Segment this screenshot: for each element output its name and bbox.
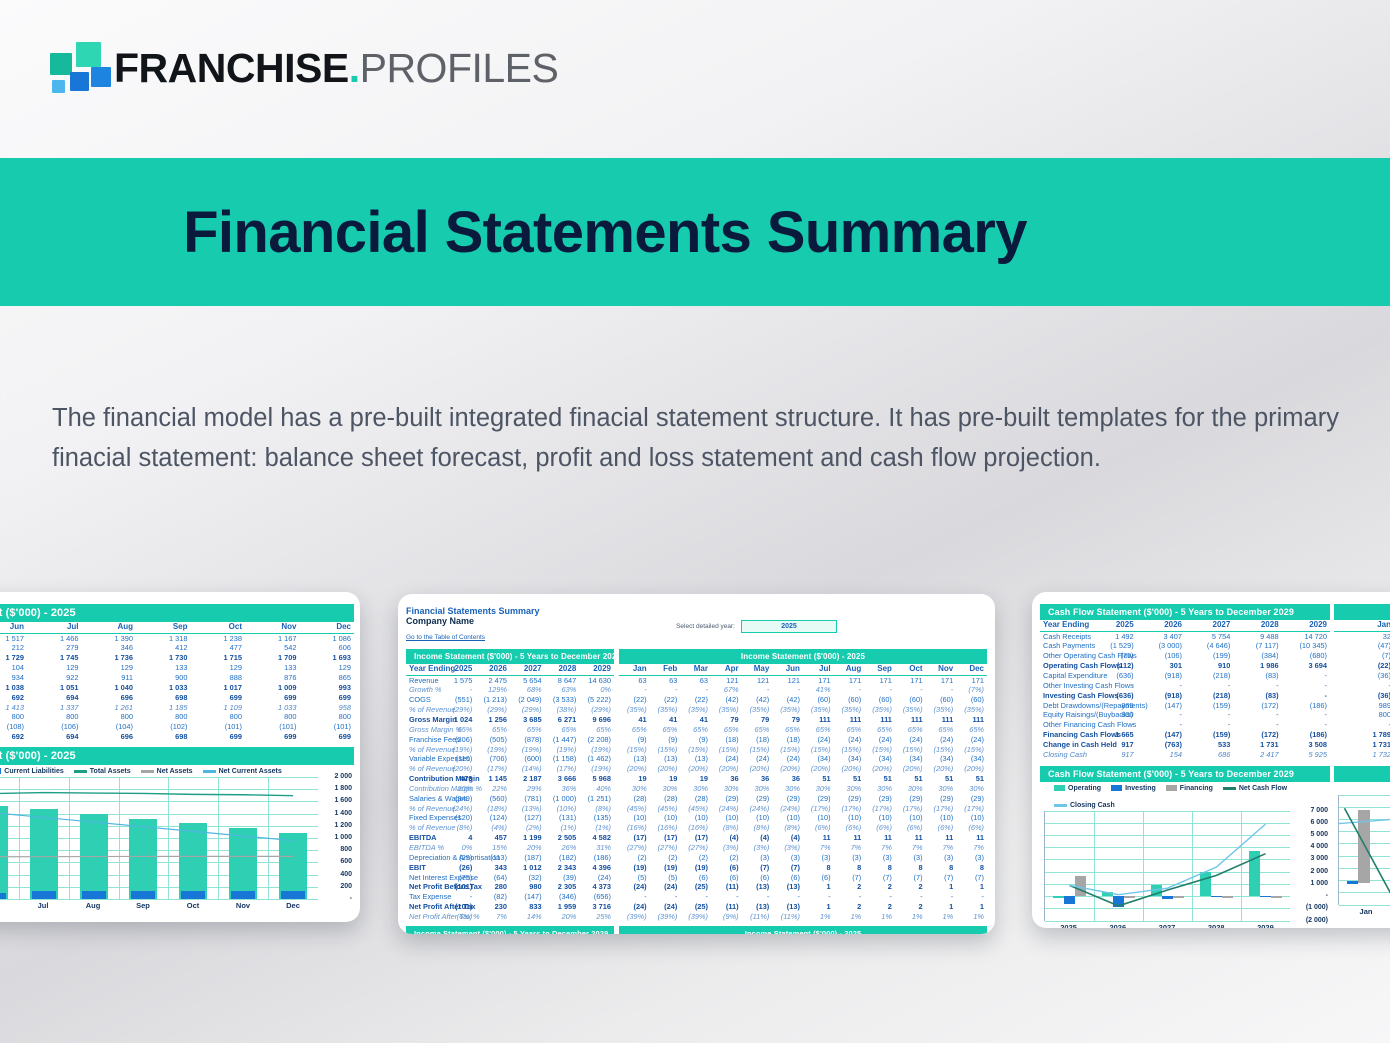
table-cell: (7) [772, 863, 803, 873]
table-cell: (13) [772, 902, 803, 912]
row-label: Investing Cash Flows [1040, 691, 1088, 701]
table-cell: (5 222) [579, 695, 614, 705]
table-cell: 1 238 [191, 633, 246, 643]
table-cell: (878) [510, 735, 545, 745]
column-header: Year Ending [406, 664, 441, 675]
table-row: Salaries & Wages(349)(560)(781)(1 000)(1… [406, 794, 614, 804]
table-cell: 14 630 [579, 675, 614, 685]
table-cell: 2 [834, 882, 865, 892]
table-cell: (24) [619, 902, 650, 912]
table-cell: (218) [1185, 671, 1233, 681]
table-cell: (35%) [864, 705, 895, 715]
table-cell: (42) [742, 695, 773, 705]
table-cell: (106) [27, 722, 82, 732]
table-cell: 696 [82, 732, 137, 742]
table-cell: (18) [711, 735, 742, 745]
table-cell: (2 208) [579, 735, 614, 745]
column-header: 2027 [510, 664, 545, 675]
table-cell: (83) [1233, 691, 1281, 701]
table-cell: 65% [926, 725, 957, 735]
table-cell: (20%) [864, 764, 895, 774]
table-row: % of Revenue(29%)(29%)(29%)(38%)(29%) [406, 705, 614, 715]
table-cell: 1 729 [0, 653, 27, 663]
table-cell: 8 [803, 863, 834, 873]
table-cell: (17%) [926, 804, 957, 814]
table-cell: (60) [926, 695, 957, 705]
table-cell: 40% [579, 784, 614, 794]
table-row: 414141797979111111111111111111 [619, 715, 987, 725]
y-axis-tick: 200 [340, 883, 352, 890]
table-row: Financing Cash Flows1 665(147)(159)(172)… [1040, 730, 1330, 740]
table-cell: (9) [619, 735, 650, 745]
table-cell: 1 017 [191, 683, 246, 693]
table-cell: (147) [510, 892, 545, 902]
table-row: % of Revenue(8%)(4%)(2%)(1%)(1%) [406, 823, 614, 833]
table-cell: 1 693 [300, 653, 355, 663]
table-cell: - [803, 892, 834, 902]
table-row: (27%)(27%)(27%)(3%)(3%)(3%)7%7%7%7%7%7% [619, 843, 987, 853]
column-header: 2026 [1137, 620, 1185, 631]
table-cell: 900 [136, 673, 191, 683]
table-cell: (6%) [864, 823, 895, 833]
table-cell: (10) [742, 813, 773, 823]
table-cell: (7%) [956, 685, 987, 695]
table-cell: (1%) [579, 823, 614, 833]
table-row: Closing Cash9171546862 4175 925 [1040, 750, 1330, 760]
table-row: (7) [1334, 651, 1390, 661]
table-row: 1 7491 7291 7451 7361 7301 7151 7091 693 [0, 653, 354, 663]
table-cell: - [619, 685, 650, 695]
row-label: Other Investing Cash Flows [1040, 681, 1088, 691]
table-cell: (24) [864, 735, 895, 745]
table-cell: (186) [579, 853, 614, 863]
table-cell: (24) [650, 902, 681, 912]
table-cell: (18) [742, 735, 773, 745]
table-cell: 30% [772, 784, 803, 794]
table-cell: (34) [926, 754, 957, 764]
table-cell: 1 731 [1233, 740, 1281, 750]
table-cell: 9 696 [579, 715, 614, 725]
table-cell: (15%) [772, 745, 803, 755]
table-cell: (39%) [619, 912, 650, 922]
table-cell: - [441, 685, 476, 695]
table-cell: (16%) [680, 823, 711, 833]
table-cell: (15%) [895, 745, 926, 755]
table-cell: (15%) [926, 745, 957, 755]
table-cell: (34) [895, 754, 926, 764]
table-cell: 7% [834, 843, 865, 853]
table-cell: (24%) [742, 804, 773, 814]
jan-col-header: Jan [1334, 620, 1390, 631]
table-cell: 104 [0, 663, 27, 673]
table-cell: 1 167 [245, 633, 300, 643]
table-cell: 14% [510, 912, 545, 922]
table-cell: 1 033 [245, 703, 300, 713]
table-cell: (13) [619, 754, 650, 764]
row-label: Net Profit After Tax % [406, 912, 441, 922]
cash-flow-jan-chart: Jan [1334, 795, 1390, 923]
table-cell: - [1185, 681, 1233, 691]
table-row: Cash Receipts1 4923 4075 7549 48814 720 [1040, 631, 1330, 641]
table-cell: (34) [956, 754, 987, 764]
table-cell: (18%) [475, 804, 510, 814]
table-cell: 51 [895, 774, 926, 784]
table-row: Revenue1 5752 4755 6548 64714 630 [406, 675, 614, 685]
table-cell: 51 [864, 774, 895, 784]
table-cell: (6%) [956, 823, 987, 833]
table-row: Depreciation & Amortisation(29)(113)(187… [406, 853, 614, 863]
table-cell: 301 [1137, 661, 1185, 671]
table-cell: (35%) [619, 705, 650, 715]
table-cell: - [1282, 710, 1330, 720]
table-cell: (26) [441, 863, 476, 873]
table-row: Other Investing Cash Flows----- [1040, 681, 1330, 691]
legend-swatch [1054, 804, 1067, 807]
table-cell: 876 [245, 673, 300, 683]
table-cell: (13%) [510, 804, 545, 814]
column-header: 2026 [475, 664, 510, 675]
table-cell: 279 [27, 643, 82, 653]
table-cell: (135) [579, 813, 614, 823]
income-5yr-table: Year Ending20252026202720282029 Revenue1… [406, 664, 614, 922]
y-axis-tick: 1 400 [334, 810, 352, 817]
table-cell: (781) [510, 794, 545, 804]
table-cell: 65% [711, 725, 742, 735]
table-row: 703692694696698699699699 [0, 693, 354, 703]
row-label: Change in Cash Held [1040, 740, 1088, 750]
column-header: 2028 [545, 664, 580, 675]
row-label: Revenue [406, 675, 441, 685]
y-axis-tick: (2 000) [1306, 917, 1328, 924]
table-cell: 2 [864, 882, 895, 892]
table-cell: - [742, 685, 773, 695]
table-row: 101104129129133129133129 [0, 663, 354, 673]
table-cell: 30% [864, 784, 895, 794]
table-row: 1 5711 5171 4661 3901 3181 2381 1671 086 [0, 633, 354, 643]
column-header: Oct [191, 622, 246, 633]
table-cell: 65% [864, 725, 895, 735]
table-cell: (20%) [956, 764, 987, 774]
table-cell: - [650, 685, 681, 695]
table-cell: 65% [772, 725, 803, 735]
table-cell: 129 [82, 663, 137, 673]
table-cell: (60) [956, 695, 987, 705]
table-cell: (45%) [650, 804, 681, 814]
table-cell: - [926, 685, 957, 695]
balance-sheet-screenshot-card[interactable]: Balance Sheet ($'000) - 2025 MayJunJulAu… [0, 592, 360, 922]
table-cell: (656) [579, 892, 614, 902]
table-cell: 29% [510, 784, 545, 794]
table-cell: 121 [742, 675, 773, 685]
table-cell: (131) [545, 813, 580, 823]
table-cell: (8%) [579, 804, 614, 814]
table-cell: (16%) [619, 823, 650, 833]
table-cell: (15%) [803, 745, 834, 755]
logo-dot: . [349, 45, 360, 91]
table-cell: (27%) [680, 843, 711, 853]
cash-flow-screenshot-card[interactable]: Cash Flow Statement ($'000) - 5 Years to… [1032, 592, 1390, 928]
table-cell: 1 492 [1088, 631, 1136, 641]
row-label: EBITDA [406, 833, 441, 843]
table-cell: - [1282, 671, 1330, 681]
table-cell: (3) [864, 853, 895, 863]
x-axis-tick: Aug [68, 901, 118, 910]
table-row: % of Revenue(19%)(19%)(19%)(19%)(19%) [406, 745, 614, 755]
table-of-contents-link[interactable]: Go to the Table of Contents [406, 634, 485, 641]
table-row: (22)(22)(22)(42)(42)(42)(60)(60)(60)(60)… [619, 695, 987, 705]
legend-item: Net Assets [141, 768, 193, 775]
x-axis-tick: Jun [0, 901, 18, 910]
balance-sheet-chart-legend: Current LiabilitiesTotal AssetsNet Asset… [0, 765, 354, 777]
table-cell: (7) [926, 873, 957, 883]
y-axis-tick: 400 [340, 871, 352, 878]
table-cell: (13) [742, 902, 773, 912]
table-cell: 30% [895, 784, 926, 794]
table-cell: (918) [1137, 691, 1185, 701]
table-cell: 11 [895, 833, 926, 843]
table-cell: (29%) [579, 705, 614, 715]
table-cell: 65% [742, 725, 773, 735]
table-cell: (60) [895, 695, 926, 705]
legend-swatch [1223, 787, 1236, 790]
income-statement-screenshot-card[interactable]: Financial Statements Summary Company Nam… [398, 594, 995, 934]
x-axis-tick: 2025 [1044, 923, 1093, 928]
table-row: 1 731 [1334, 740, 1390, 750]
table-cell: (29) [895, 794, 926, 804]
table-cell: (25) [680, 882, 711, 892]
table-row: 1 0451 0381 0511 0401 0331 0171 009993 [0, 683, 354, 693]
x-axis-tick: Nov [218, 901, 268, 910]
table-cell: 993 [300, 683, 355, 693]
table-cell: 111 [895, 715, 926, 725]
balance-sheet-table: MayJunJulAugSepOctNovDec 1 5711 5171 466… [0, 622, 354, 742]
table-cell: (127) [510, 813, 545, 823]
table-cell: 30% [956, 784, 987, 794]
table-cell: (6) [742, 873, 773, 883]
table-cell: (11%) [742, 912, 773, 922]
table-row: Net Profit Before Tax(101)2809802 3054 3… [406, 882, 614, 892]
table-cell: - [956, 892, 987, 902]
table-cell: 171 [803, 675, 834, 685]
column-header: 2029 [579, 664, 614, 675]
x-axis-tick: Jan [1338, 907, 1390, 916]
table-cell: (60) [834, 695, 865, 705]
table-row: EBITDA %0%15%20%26%31% [406, 843, 614, 853]
table-row: Net Profit After Tax %(6%)7%14%20%25% [406, 912, 614, 922]
table-row: ------------ [619, 892, 987, 902]
row-label: Other Financing Cash Flows [1040, 720, 1088, 730]
table-cell: 698 [136, 693, 191, 703]
table-row: 30%30%30%30%30%30%30%30%30%30%30%30% [619, 784, 987, 794]
table-row: ---67%--41%----(7%) [619, 685, 987, 695]
row-label: % of Revenue [406, 745, 441, 755]
table-cell: (24) [711, 754, 742, 764]
table-cell: 922 [27, 673, 82, 683]
table-cell: (38%) [545, 705, 580, 715]
table-row: (19)(19)(19)(6)(7)(7)888888 [619, 863, 987, 873]
table-cell: 911 [82, 673, 137, 683]
table-row: Other Operating Cash Flows(75)(106)(199)… [1040, 651, 1330, 661]
table-cell: 67% [711, 685, 742, 695]
table-cell: (35%) [956, 705, 987, 715]
table-cell: 51 [926, 774, 957, 784]
row-label: Depreciation & Amortisation [406, 853, 441, 863]
table-cell: (3) [772, 853, 803, 863]
table-cell: (15%) [864, 745, 895, 755]
table-cell: 542 [245, 643, 300, 653]
table-cell: (186) [1282, 701, 1330, 711]
table-row: (36) [1334, 671, 1390, 681]
table-cell: (8%) [711, 823, 742, 833]
table-cell: (6) [803, 873, 834, 883]
table-cell: 1 051 [27, 683, 82, 693]
legend-label: Investing [1125, 785, 1156, 792]
table-cell: - [1233, 720, 1281, 730]
table-cell: (14%) [510, 764, 545, 774]
table-cell: (101) [245, 722, 300, 732]
legend-item: Net Current Assets [203, 768, 282, 775]
table-cell: (13) [650, 754, 681, 764]
table-cell: (29) [834, 794, 865, 804]
column-header: Jun [0, 622, 27, 633]
table-cell: (11) [711, 882, 742, 892]
table-cell: 51 [803, 774, 834, 784]
table-cell: 2 [895, 902, 926, 912]
table-cell: 8 [864, 863, 895, 873]
table-row: Net Interest Expense(75)(64)(32)(39)(24) [406, 873, 614, 883]
table-cell: 30% [834, 784, 865, 794]
row-label: EBITDA % [406, 843, 441, 853]
table-cell: 346 [82, 643, 137, 653]
table-cell: (6) [711, 863, 742, 873]
table-cell: - [834, 892, 865, 902]
table-cell: (19%) [510, 745, 545, 755]
table-cell: (6) [711, 873, 742, 883]
row-label: Gross Margin [406, 715, 441, 725]
table-cell: 79 [772, 715, 803, 725]
table-cell: 32 [1334, 631, 1390, 641]
table-row: EBIT(26)3431 0122 3434 396 [406, 863, 614, 873]
y-axis-tick: 2 000 [1310, 868, 1328, 875]
table-cell: (42) [772, 695, 803, 705]
table-cell: - [772, 892, 803, 902]
table-cell: 606 [300, 643, 355, 653]
table-cell: 698 [136, 732, 191, 742]
row-label: Growth % [406, 685, 441, 695]
table-cell: (27%) [619, 843, 650, 853]
table-cell: (35%) [680, 705, 711, 715]
column-header: Sep [136, 622, 191, 633]
table-cell: - [1137, 681, 1185, 691]
table-cell: (15%) [650, 745, 681, 755]
table-cell: (10 345) [1282, 641, 1330, 651]
table-row: Cash Payments(1 529)(3 000)(4 646)(7 117… [1040, 641, 1330, 651]
table-cell: (6%) [895, 823, 926, 833]
table-cell: 65% [579, 725, 614, 735]
table-cell: 457 [475, 833, 510, 843]
balance-sheet-header: Balance Sheet ($'000) - 2025 [0, 604, 354, 622]
table-cell: (505) [475, 735, 510, 745]
table-cell: 1 256 [475, 715, 510, 725]
row-label: % of Revenue [406, 804, 441, 814]
table-cell: (20%) [895, 764, 926, 774]
y-axis-tick: 4 000 [1310, 843, 1328, 850]
year-picker-input[interactable]: 2025 [741, 620, 837, 633]
table-cell: - [1334, 720, 1390, 730]
table-cell: 65% [475, 725, 510, 735]
table-cell: (172) [1233, 730, 1281, 740]
table-cell: 68% [510, 685, 545, 695]
table-cell: 3 716 [579, 902, 614, 912]
table-cell: 129 [300, 663, 355, 673]
table-cell: (18) [772, 735, 803, 745]
column-header: Nov [926, 664, 957, 675]
table-cell: 5 925 [1282, 750, 1330, 760]
table-row: (10)(10)(10)(10)(10)(10)(10)(10)(10)(10)… [619, 813, 987, 823]
table-row: Contribution Margin4731 1452 1873 6665 9… [406, 774, 614, 784]
table-cell: (346) [545, 892, 580, 902]
table-cell: (20%) [650, 764, 681, 774]
table-cell: 19 [619, 774, 650, 784]
table-cell: (8%) [742, 823, 773, 833]
table-row: (39%)(39%)(39%)(9%)(11%)(11%)1%1%1%1%1%1… [619, 912, 987, 922]
table-cell: (124) [475, 813, 510, 823]
table-row: 1 732 [1334, 750, 1390, 760]
table-cell: (13) [772, 882, 803, 892]
table-cell: (6%) [834, 823, 865, 833]
table-cell: (32) [510, 873, 545, 883]
table-cell: 1% [864, 912, 895, 922]
table-row: (36) [1334, 691, 1390, 701]
table-cell: (20%) [803, 764, 834, 774]
table-cell: - [864, 685, 895, 695]
legend-label: Current Liabilities [4, 768, 64, 775]
y-axis-tick: 1 000 [1310, 880, 1328, 887]
table-cell: 0% [579, 685, 614, 695]
table-cell: (17%) [834, 804, 865, 814]
table-cell: (10) [650, 813, 681, 823]
table-cell: 133 [136, 663, 191, 673]
table-cell: 2 417 [1233, 750, 1281, 760]
table-cell: (17%) [864, 804, 895, 814]
table-cell: 1 337 [27, 703, 82, 713]
table-row: COGS(551)(1 213)(2 049)(3 533)(5 222) [406, 695, 614, 705]
table-cell: 1 [803, 882, 834, 892]
table-cell: 8 [895, 863, 926, 873]
row-label: Operating Cash Flows [1040, 661, 1088, 671]
table-cell: (2 049) [510, 695, 545, 705]
column-header: May [742, 664, 773, 675]
table-cell: 31% [579, 843, 614, 853]
table-cell: (7) [956, 873, 987, 883]
table-cell: 800 [191, 712, 246, 722]
income-doc-title: Financial Statements Summary [406, 606, 540, 616]
column-header: Year Ending [1040, 620, 1088, 631]
table-row: (35%)(35%)(35%)(35%)(35%)(35%)(35%)(35%)… [619, 705, 987, 715]
table-cell: (384) [1233, 651, 1281, 661]
table-cell: 51 [956, 774, 987, 784]
table-cell: - [650, 892, 681, 902]
legend-swatch [0, 768, 1, 774]
table-cell: (3) [742, 853, 773, 863]
row-label: Other Operating Cash Flows [1040, 651, 1088, 661]
table-cell: (3 000) [1137, 641, 1185, 651]
table-cell: (22) [619, 695, 650, 705]
table-cell: 910 [1185, 661, 1233, 671]
cash-flow-chart: 7 0006 0005 0004 0003 0002 0001 000-(1 0… [1040, 811, 1330, 928]
table-cell: 30% [680, 784, 711, 794]
table-cell: 958 [300, 703, 355, 713]
